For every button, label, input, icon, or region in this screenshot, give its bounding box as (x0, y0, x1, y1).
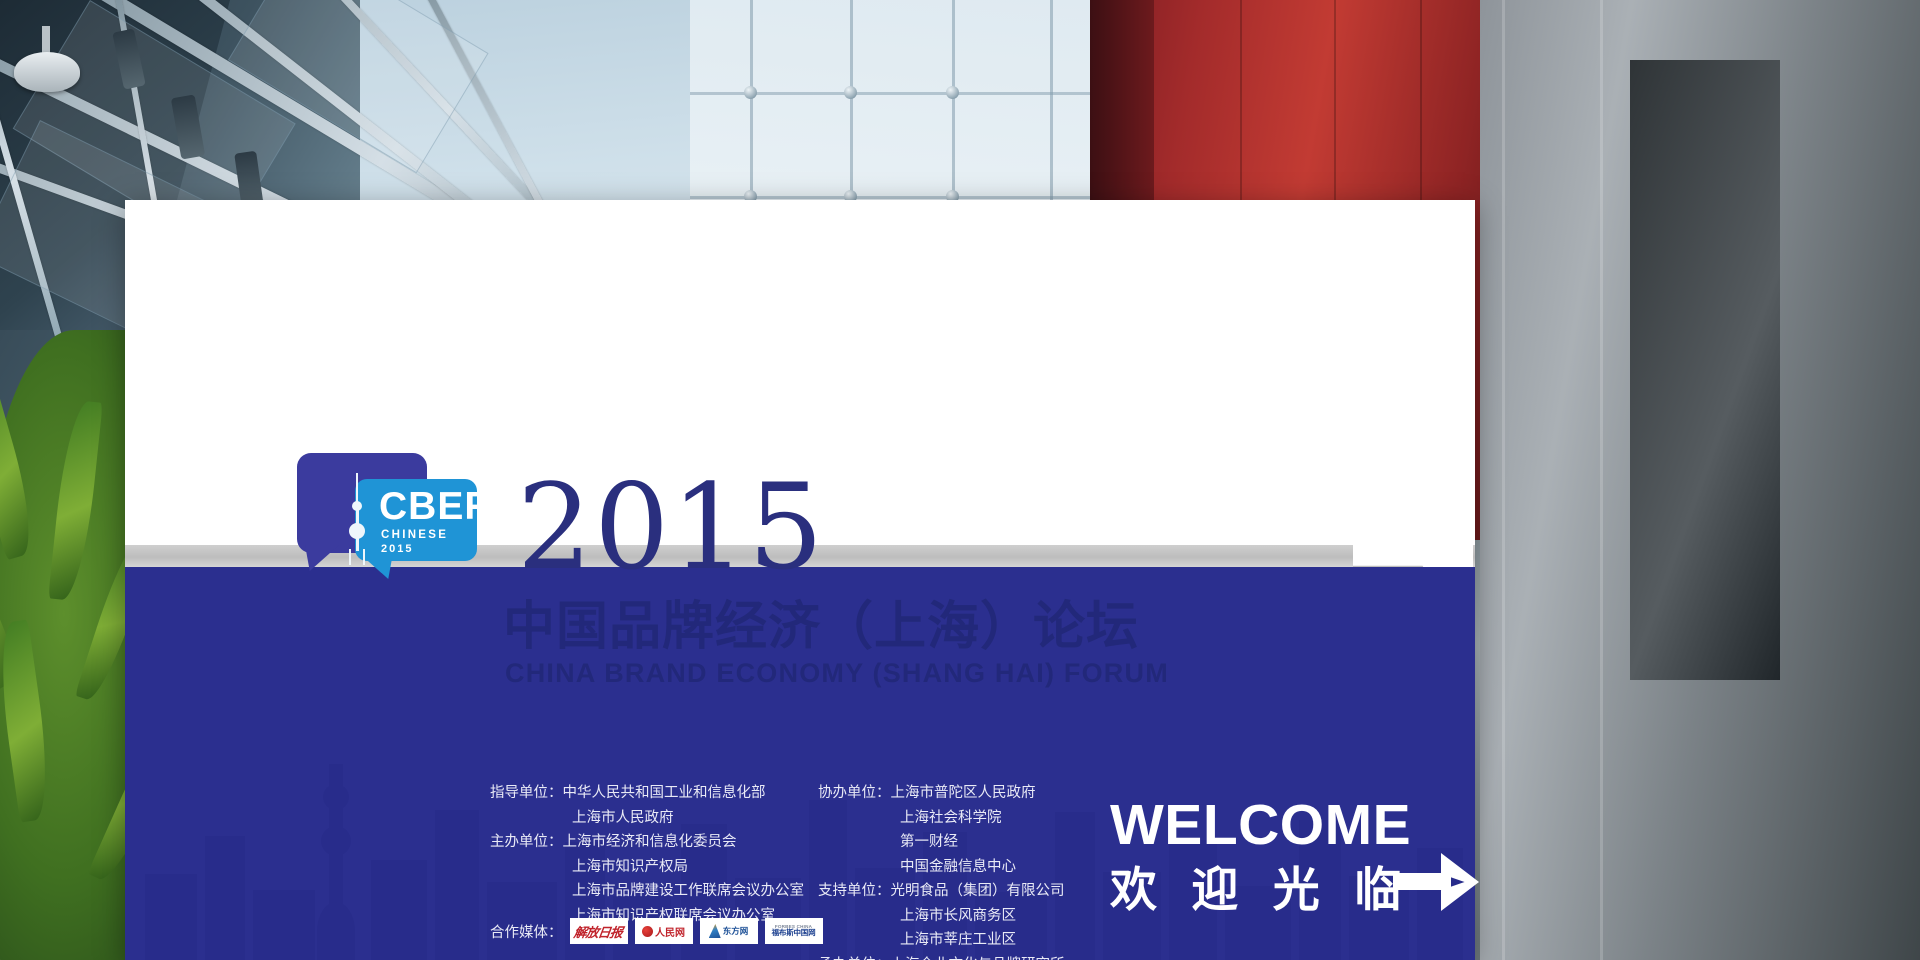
security-camera-icon (14, 52, 80, 92)
credit-line: 上海市品牌建设工作联席会议办公室 (490, 879, 804, 904)
jiefang-daily-logo: 解放日报 (570, 918, 628, 944)
credit-line: 上海市人民政府 (490, 806, 804, 831)
event-title-english: CHINA BRAND ECONOMY (SHANG HAI) FORUM (505, 658, 1169, 689)
credit-line: 上海市长风商务区 (818, 904, 1065, 929)
media-partners-row: 合作媒体： 解放日报 人民网 东方网 FORBES CHINA福布斯中国网 (490, 918, 823, 944)
event-backdrop-banner: CBEF CHINESE 2015 2015 中国品牌经济（上海）论坛 CHIN… (125, 200, 1475, 960)
credits-column-left: 指导单位：中华人民共和国工业和信息化部上海市人民政府主办单位：上海市经济和信息化… (490, 781, 804, 928)
oriental-pearl-tower-icon (348, 473, 366, 565)
cbef-logo: CBEF CHINESE 2015 (297, 453, 477, 573)
event-title-chinese: 中国品牌经济（上海）论坛 (503, 598, 1139, 656)
credit-line: 上海社会科学院 (818, 806, 1065, 831)
credit-line: 中国金融信息中心 (818, 855, 1065, 880)
credit-line: 第一财经 (818, 830, 1065, 855)
logo-acronym: CBEF (379, 487, 489, 526)
credit-line: 承办单位：上海企业文化与品牌研究所 (818, 953, 1065, 960)
credit-line: 上海市莘庄工业区 (818, 928, 1065, 953)
logo-year: 2015 (381, 543, 413, 555)
arrow-right-icon (1393, 843, 1479, 913)
credit-line: 主办单位：上海市经济和信息化委员会 (490, 830, 804, 855)
logo-bubble-back-tail (305, 545, 339, 571)
credit-line: 协办单位：上海市普陀区人民政府 (818, 781, 1065, 806)
credit-line: 上海市知识产权局 (490, 855, 804, 880)
event-year: 2015 (517, 468, 825, 586)
logo-subtext: CHINESE (381, 529, 448, 541)
finance-media-logo: FORBES CHINA福布斯中国网 (765, 918, 823, 944)
credits-column-right: 协办单位：上海市普陀区人民政府上海社会科学院第一财经中国金融信息中心支持单位：光… (818, 781, 1065, 960)
right-doorway (1630, 60, 1780, 680)
credit-line: 指导单位：中华人民共和国工业和信息化部 (490, 781, 804, 806)
media-partners-label: 合作媒体： (490, 921, 563, 942)
credit-line: 支持单位：光明食品（集团）有限公司 (818, 879, 1065, 904)
people-cn-logo: 人民网 (635, 918, 693, 944)
eastday-logo: 东方网 (700, 918, 758, 944)
